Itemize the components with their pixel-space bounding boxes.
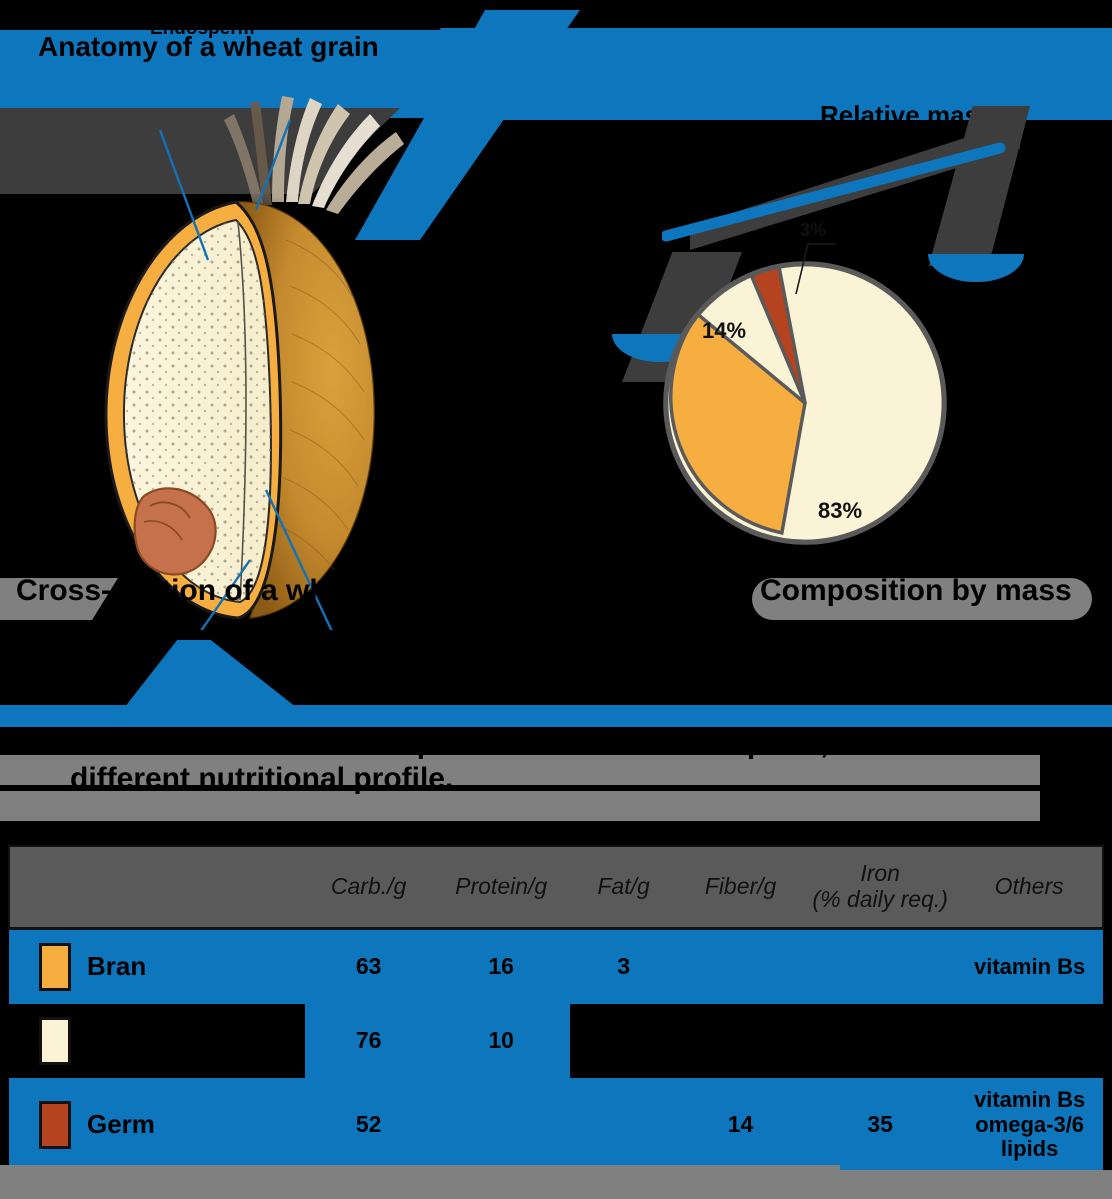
page-title: Anatomy of a wheat grain bbox=[38, 30, 538, 63]
footer-band-right bbox=[840, 1170, 1112, 1199]
swatch-bran-icon bbox=[39, 943, 71, 991]
row-bran-iron bbox=[804, 929, 956, 1005]
pie-label-endosperm: 83% bbox=[818, 498, 862, 524]
composition-pie-chart: 14% 83% 3% bbox=[660, 258, 950, 548]
row-germ-carb: 52 bbox=[305, 1078, 432, 1172]
row-germ-fiber: 14 bbox=[677, 1078, 804, 1172]
swatch-endosperm-icon bbox=[39, 1017, 71, 1065]
body-paragraph-text: The wheat kernel is composed of three di… bbox=[70, 726, 1030, 797]
pie-label-bran: 14% bbox=[702, 318, 746, 344]
col-header-fat: Fat/g bbox=[570, 846, 677, 929]
row-endosperm-protein: 10 bbox=[432, 1004, 570, 1078]
wheat-grain-svg bbox=[40, 90, 440, 630]
label-endosperm: Endosperm bbox=[150, 18, 255, 40]
col-header-iron: Iron (% daily req.) bbox=[804, 846, 956, 929]
table-head: Carb./g Protein/g Fat/g Fiber/g Iron (% … bbox=[9, 846, 1103, 929]
row-bran-label: Bran bbox=[87, 952, 146, 981]
row-bran-carb: 63 bbox=[305, 929, 432, 1005]
table-row-germ[interactable]: Germ 52 14 35 vitamin Bs omega-3/6 lipid… bbox=[9, 1078, 1103, 1172]
row-bran-name-cell: Bran bbox=[9, 929, 305, 1005]
row-germ-protein bbox=[432, 1078, 570, 1172]
infographic-page: Anatomy of a wheat grain Relative mass bbox=[0, 0, 1112, 1199]
brush-hairs-icon bbox=[224, 96, 404, 214]
row-germ-others: vitamin Bs omega-3/6 lipids bbox=[956, 1078, 1103, 1172]
label-brush-hairs: Brush hairs bbox=[300, 8, 406, 30]
row-bran-fiber bbox=[677, 929, 804, 1005]
caption-right-text: Composition by mass bbox=[760, 574, 1072, 608]
swatch-germ-icon bbox=[39, 1101, 71, 1149]
page-title-right: Relative mass bbox=[820, 100, 1100, 131]
scale-beam-svg bbox=[662, 140, 1006, 242]
caption-left-text: Cross-section of a wheat kernel bbox=[16, 574, 468, 608]
footer-band-left bbox=[0, 1165, 840, 1199]
pie-svg bbox=[660, 258, 950, 548]
row-germ-fat bbox=[570, 1078, 677, 1172]
mid-rule bbox=[0, 705, 1112, 727]
table-header-row: Carb./g Protein/g Fat/g Fiber/g Iron (% … bbox=[9, 846, 1103, 929]
label-bran: Bran bbox=[320, 640, 363, 662]
col-header-others: Others bbox=[956, 846, 1103, 929]
table-row-endosperm[interactable]: Endosperm 76 10 bbox=[9, 1004, 1103, 1078]
col-header-carb: Carb./g bbox=[305, 846, 432, 929]
pie-germ-leader bbox=[780, 228, 840, 298]
row-endosperm-others bbox=[956, 1004, 1103, 1078]
col-header-name bbox=[9, 846, 305, 929]
row-bran-protein: 16 bbox=[432, 929, 570, 1005]
row-bran-others: vitamin Bs bbox=[956, 929, 1103, 1005]
row-bran-fat: 3 bbox=[570, 929, 677, 1005]
row-germ-iron: 35 bbox=[804, 1078, 956, 1172]
row-endosperm-fat bbox=[570, 1004, 677, 1078]
table-body: Bran 63 16 3 vitamin Bs Endosperm 76 10 bbox=[9, 929, 1103, 1173]
scale-beam bbox=[662, 140, 1006, 242]
wheat-grain-diagram bbox=[40, 90, 440, 630]
table-row-bran[interactable]: Bran 63 16 3 vitamin Bs bbox=[9, 929, 1103, 1005]
row-endosperm-carb: 76 bbox=[305, 1004, 432, 1078]
row-germ-name-cell: Germ bbox=[9, 1078, 305, 1172]
row-endosperm-fiber bbox=[677, 1004, 804, 1078]
row-endosperm-name-cell: Endosperm bbox=[9, 1004, 305, 1078]
row-endosperm-iron bbox=[804, 1004, 956, 1078]
col-header-protein: Protein/g bbox=[432, 846, 570, 929]
nutrition-table: Carb./g Protein/g Fat/g Fiber/g Iron (% … bbox=[8, 845, 1104, 1172]
row-endosperm-label: Endosperm bbox=[87, 1026, 230, 1055]
label-germ: Germ bbox=[96, 640, 146, 662]
col-header-fiber: Fiber/g bbox=[677, 846, 804, 929]
row-germ-label: Germ bbox=[87, 1110, 155, 1139]
